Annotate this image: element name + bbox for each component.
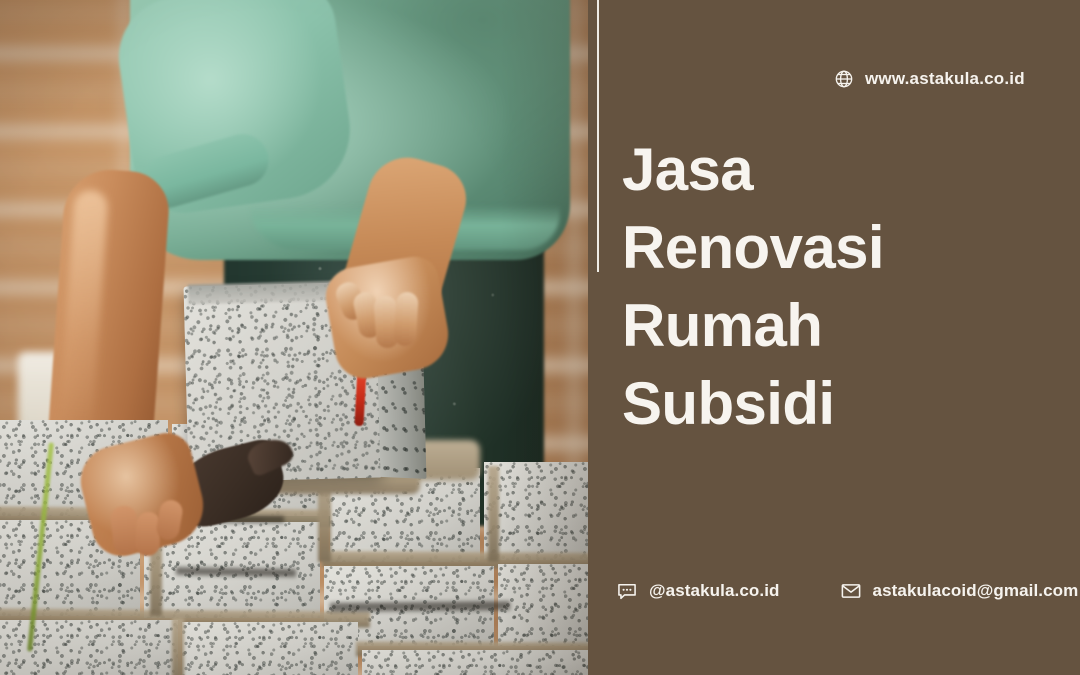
worker-finger xyxy=(393,291,419,346)
envelope-icon xyxy=(840,580,862,602)
vertical-divider xyxy=(597,0,599,272)
social-handle-item[interactable]: @astakula.co.id xyxy=(616,580,780,602)
website-url: www.astakula.co.id xyxy=(865,69,1025,89)
globe-icon xyxy=(834,69,854,89)
headline-line-2: Renovasi xyxy=(622,209,1042,287)
chat-bubble-icon xyxy=(616,580,638,602)
headline-line-1: Jasa xyxy=(622,131,1042,209)
concrete-block xyxy=(362,650,588,675)
hero-photo xyxy=(0,0,588,675)
content-panel: www.astakula.co.id Jasa Renovasi Rumah S… xyxy=(588,0,1080,675)
email-item[interactable]: astakulacoid@gmail.com xyxy=(840,580,1079,602)
promo-banner: www.astakula.co.id Jasa Renovasi Rumah S… xyxy=(0,0,1080,675)
mortar-joint-vertical xyxy=(172,618,184,675)
social-handle-text: @astakula.co.id xyxy=(649,581,780,601)
page-title: Jasa Renovasi Rumah Subsidi xyxy=(622,131,1042,443)
website-row[interactable]: www.astakula.co.id xyxy=(834,69,1025,89)
concrete-block xyxy=(182,622,358,675)
headline-line-3: Rumah xyxy=(622,287,1042,365)
concrete-block xyxy=(484,462,588,560)
block-crevice xyxy=(330,601,510,612)
concrete-block xyxy=(498,564,588,646)
mortar-joint-vertical xyxy=(488,466,499,562)
contact-bar: @astakula.co.id astakulacoid@gmail.com xyxy=(616,580,1078,602)
email-text: astakulacoid@gmail.com xyxy=(873,581,1079,601)
headline-line-4: Subsidi xyxy=(622,365,1042,443)
